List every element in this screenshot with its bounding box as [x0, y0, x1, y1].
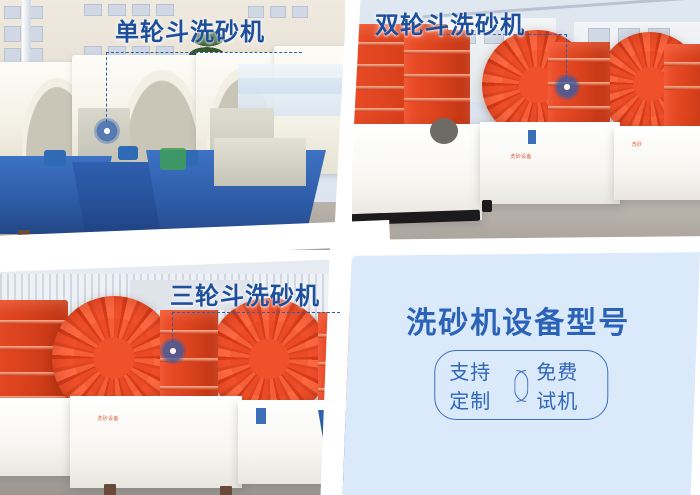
red-bucket-unit [664, 44, 700, 126]
blue-fitting [44, 150, 66, 166]
building-window [84, 4, 102, 16]
target-dot-marker [554, 74, 580, 100]
tank-decal [256, 408, 266, 424]
badge-divider-icon [514, 370, 528, 400]
white-tank: 洗砂 [614, 126, 700, 200]
white-tank: 洗砂设备 [480, 122, 620, 204]
motor-pulley [430, 118, 458, 144]
white-tank: 洗砂设备 [70, 396, 242, 488]
badge-custom-support[interactable]: 支持定制 [449, 356, 506, 414]
callout-line-horizontal [106, 52, 302, 53]
target-dot-marker [160, 338, 186, 364]
callout-line-horizontal [172, 312, 340, 313]
target-dot-marker [94, 118, 120, 144]
building-window [4, 6, 21, 19]
machine-foot [104, 484, 116, 495]
tank-logo: 洗砂 [618, 142, 656, 148]
green-fitting [160, 148, 186, 170]
photo-title-single-wheel: 单轮斗洗砂机 [115, 12, 265, 47]
building-window [292, 6, 308, 18]
machine-foot [482, 200, 492, 212]
callout-line-vertical [106, 52, 107, 122]
machine-foot [220, 486, 232, 495]
panel-equipment-models: 洗砂机设备型号 支持定制 免费试机 [343, 250, 700, 495]
photo-title-triple-wheel: 三轮斗洗砂机 [170, 276, 320, 311]
info-panel-title: 洗砂机设备型号 [347, 298, 689, 342]
feature-badge-group[interactable]: 支持定制 免费试机 [434, 350, 608, 420]
red-bucket-unit [404, 30, 470, 126]
hopper-lid [214, 138, 306, 186]
building-window [270, 6, 286, 18]
callout-line-vertical [566, 34, 567, 78]
promo-banner: 洗砂设备 洗砂 洗砂设备 [0, 0, 700, 495]
tank-logo: 洗砂设备 [498, 154, 544, 160]
white-tank [0, 398, 80, 476]
badge-free-trial[interactable]: 免费试机 [536, 356, 593, 414]
building-window [4, 26, 21, 42]
tank-logo: 洗砂设备 [80, 416, 136, 422]
tank-decal [528, 130, 536, 144]
white-tank [352, 124, 482, 220]
photo-title-double-wheel: 双轮斗洗砂机 [375, 5, 525, 40]
blue-fitting [118, 146, 138, 160]
